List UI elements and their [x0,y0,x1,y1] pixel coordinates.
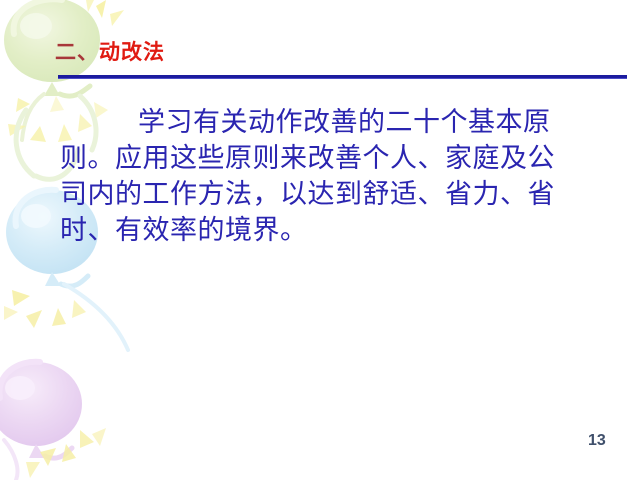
slide-body: 学习有关动作改善的二十个基本原则。应用这些原则来改善个人、家庭及公司内的工作方法… [60,104,560,248]
page-number: 13 [588,432,606,450]
yellow-sparkle-icon [86,0,124,26]
slide-title-main: 动改法 [99,42,165,63]
title-underline-hairline [58,78,627,79]
presentation-slide: 二、动改法 学习有关动作改善的二十个基本原则。应用这些原则来改善个人、家庭及公司… [0,0,640,480]
yellow-sparkle-icon [26,428,106,478]
slide-title-numeral: 二、 [55,42,99,63]
pink-balloon-icon [0,362,82,480]
slide-title: 二、动改法 [55,36,165,68]
yellow-sparkle-icon [4,290,86,328]
body-paragraph: 学习有关动作改善的二十个基本原则。应用这些原则来改善个人、家庭及公司内的工作方法… [60,104,560,248]
